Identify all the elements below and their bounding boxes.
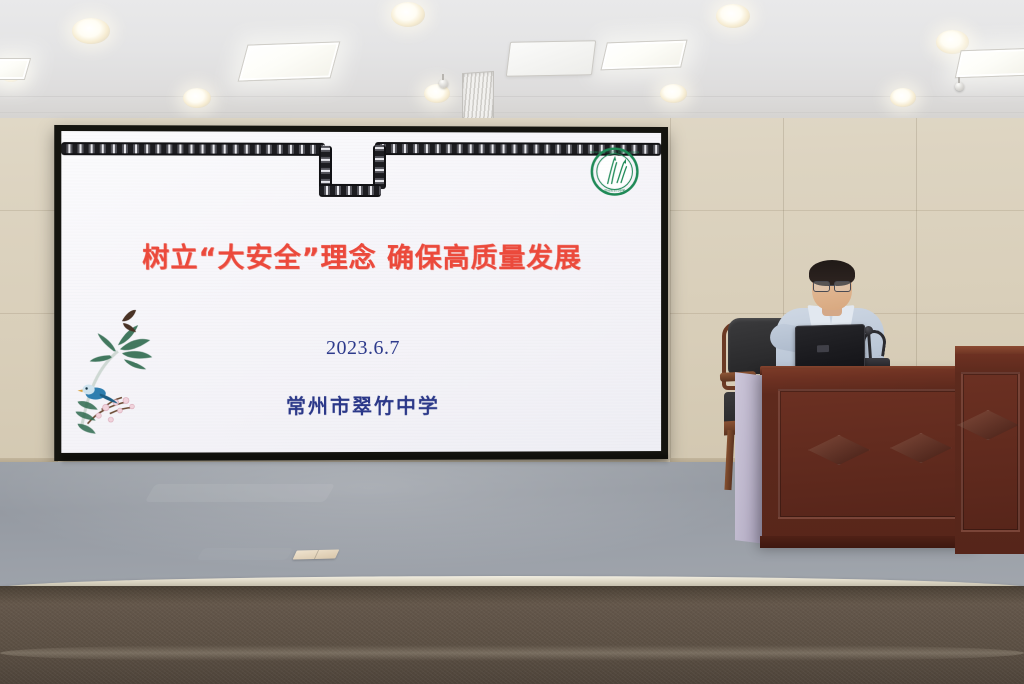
slide-date: 2023.6.7 (61, 337, 661, 361)
floor-scuff (145, 484, 335, 502)
downlight-icon (391, 2, 425, 27)
svg-text:常州市翠竹中学: 常州市翠竹中学 (604, 188, 625, 193)
podium-diamond-motif (808, 435, 870, 465)
ceiling (0, 0, 1024, 124)
sprinkler-icon (955, 82, 964, 91)
podium-side-panel (735, 372, 765, 544)
panel-light-icon (0, 58, 31, 80)
panel-light-icon (238, 41, 341, 81)
slide-content: CHANGZHOU CUIZHU MIDDLE SCHOOL 常州市翠竹中学 (61, 131, 661, 453)
downlight-icon (660, 84, 687, 103)
podium-diamond-motif (890, 433, 952, 463)
ceiling-panel (506, 40, 596, 77)
laptop-logo-icon (817, 345, 829, 352)
downlight-icon (716, 4, 750, 28)
chain-decoration-bracket-right (373, 145, 386, 189)
downlight-icon (72, 18, 110, 44)
stage-highlight (0, 645, 1024, 661)
floor-scuff (197, 548, 294, 560)
side-desk (955, 354, 1024, 554)
wooden-podium (762, 369, 980, 545)
eyeglasses-icon (813, 281, 851, 290)
svg-text:CHANGZHOU CUIZHU MIDDLE SCHOOL: CHANGZHOU CUIZHU MIDDLE SCHOOL (590, 150, 639, 154)
air-vent-icon (462, 71, 494, 125)
podium-front-panel (778, 389, 970, 519)
bamboo-ink-painting (75, 307, 172, 443)
screen-shadow (62, 455, 668, 465)
sprinkler-icon (439, 79, 448, 88)
podium-base (760, 536, 984, 548)
slide-title: 树立“大安全”理念 确保高质量发展 (61, 236, 661, 275)
side-desk-diamond-motif (957, 410, 1019, 440)
panel-light-icon (600, 40, 687, 71)
gooseneck-microphone-head (864, 326, 873, 335)
booklet-on-floor (293, 549, 340, 559)
projection-screen: CHANGZHOU CUIZHU MIDDLE SCHOOL 常州市翠竹中学 (54, 125, 668, 461)
chain-decoration-left (61, 142, 325, 156)
school-emblem-logo: CHANGZHOU CUIZHU MIDDLE SCHOOL 常州市翠竹中学 (590, 147, 639, 197)
downlight-icon (183, 88, 211, 108)
slide-organization: 常州市翠竹中学 (61, 389, 661, 419)
auditorium-photo: CHANGZHOU CUIZHU MIDDLE SCHOOL 常州市翠竹中学 (0, 0, 1024, 684)
side-desk-panel (961, 372, 1020, 532)
stage-shadow (0, 586, 1024, 604)
chain-decoration-bracket-bottom (319, 184, 381, 197)
panel-light-icon (955, 48, 1024, 79)
downlight-icon (890, 88, 916, 107)
